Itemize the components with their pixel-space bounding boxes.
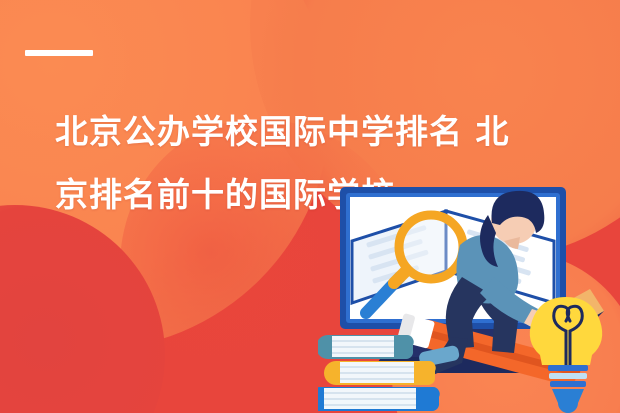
lightbulb-icon: [530, 297, 602, 413]
white-divider-dash: [25, 50, 93, 56]
promo-banner: 北京公办学校国际中学排名 北 京排名前十的国际学校: [0, 0, 620, 413]
headline-line-1: 北京公办学校国际中学排名 北: [55, 100, 575, 163]
student-research-illustration: [318, 185, 620, 413]
